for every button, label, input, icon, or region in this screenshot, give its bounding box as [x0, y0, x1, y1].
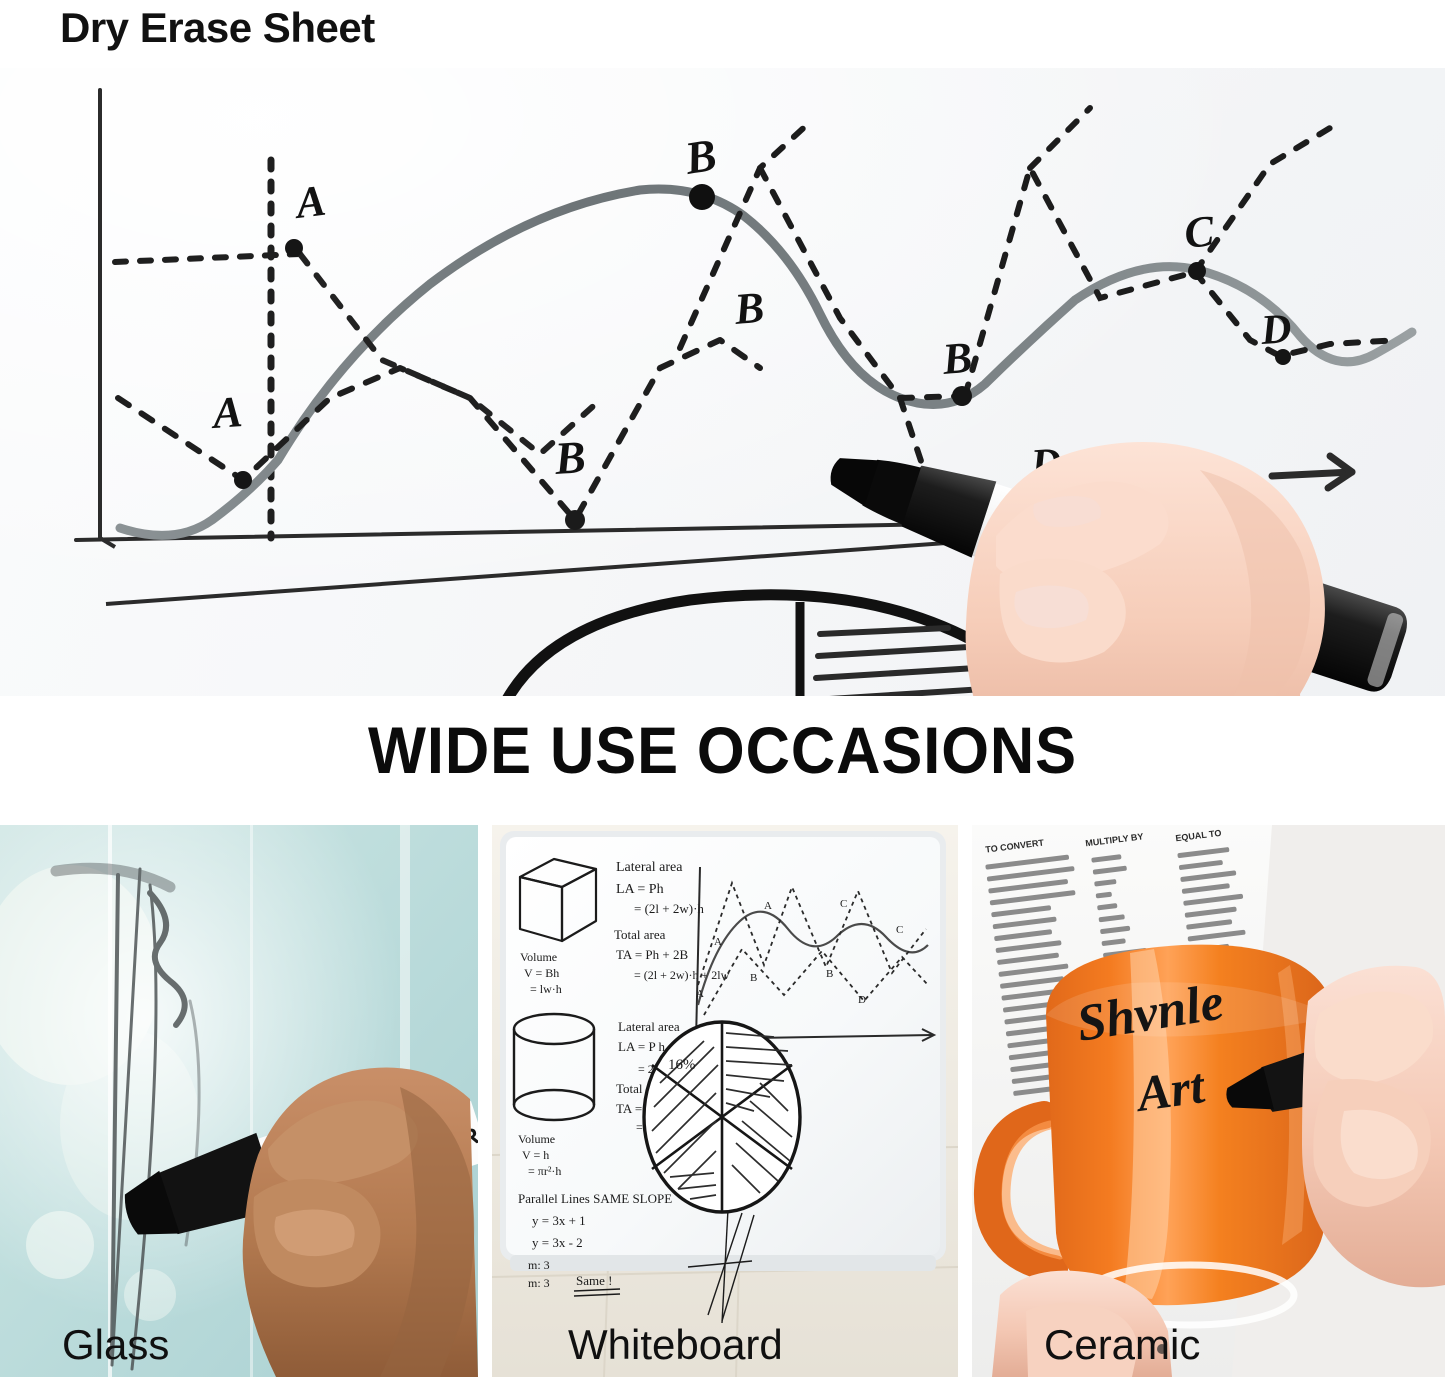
cyl-lateral-l1: LA = P h	[618, 1039, 665, 1054]
m2: m: 3	[528, 1276, 550, 1290]
panel-caption-glass: Glass	[62, 1321, 169, 1369]
label-B-2: B	[732, 283, 767, 334]
section-heading: WIDE USE OCCASIONS	[51, 712, 1395, 788]
svg-text:A: A	[714, 936, 722, 948]
mug-text-line2: Art	[1131, 1057, 1210, 1122]
panel-whiteboard: Volume V = Bh = lw·h Lateral area LA = P…	[492, 825, 958, 1377]
parallel-title: Parallel Lines SAME SLOPE	[518, 1191, 672, 1206]
svg-text:B: B	[826, 968, 833, 980]
label-B-3: B	[940, 333, 975, 384]
cube-volume-title: Volume	[520, 950, 557, 964]
eq1: y = 3x + 1	[532, 1213, 586, 1228]
svg-text:C: C	[840, 898, 847, 910]
eq2: y = 3x - 2	[532, 1235, 583, 1250]
svg-text:B: B	[750, 972, 757, 984]
cyl-lateral-title: Lateral area	[618, 1019, 680, 1034]
panel-caption-whiteboard: Whiteboard	[568, 1321, 783, 1369]
cube-volume-l1: V = Bh	[524, 966, 559, 980]
total-area-l1: TA = Ph + 2B	[616, 947, 688, 962]
m1: m: 3	[528, 1258, 550, 1272]
svg-text:D: D	[858, 994, 866, 1006]
panel-caption-ceramic: Ceramic	[1044, 1321, 1200, 1369]
hand-with-marker: DRY ERASE MARKER FINE	[818, 428, 1412, 696]
lateral-area-l2: = (2l + 2w)·h	[634, 901, 704, 916]
lateral-area-l1: LA = Ph	[616, 882, 664, 897]
total-area-l2: = (2l + 2w)·h + 2lw	[634, 968, 730, 982]
label-D-1: D	[1258, 306, 1292, 354]
cyl-volume-title: Volume	[518, 1132, 555, 1146]
product-infographic: Dry Erase Sheet	[0, 0, 1445, 1377]
label-B-top: B	[681, 129, 720, 184]
svg-text:C: C	[896, 924, 903, 936]
same-label: Same !	[576, 1273, 612, 1288]
total-area-title: Total area	[614, 927, 666, 942]
label-A-2: A	[208, 387, 244, 438]
cyl-volume-l1: V = h	[522, 1148, 549, 1162]
pie-label: 16%	[668, 1057, 696, 1073]
panel-glass: SE MARKER FINE	[0, 825, 478, 1377]
cube-volume-l2: = lw·h	[530, 982, 562, 996]
page-title: Dry Erase Sheet	[60, 4, 375, 52]
cyl-volume-l2: = πr²·h	[528, 1164, 561, 1178]
svg-text:A: A	[696, 988, 704, 1000]
label-B-4: B	[552, 431, 587, 484]
panel-ceramic: TO CONVERT MULTIPLY BY EQUAL TO	[972, 825, 1445, 1377]
label-A-1: A	[290, 176, 328, 229]
hero-photo-dry-erase-sheet: A A B B B B C D D	[0, 68, 1445, 696]
svg-text:A: A	[764, 900, 772, 912]
lateral-area-title: Lateral area	[616, 860, 683, 875]
hero-drawing: A A B B B B C D D	[0, 68, 1445, 696]
label-C: C	[1182, 206, 1217, 258]
use-case-panels: SE MARKER FINE	[0, 825, 1445, 1377]
